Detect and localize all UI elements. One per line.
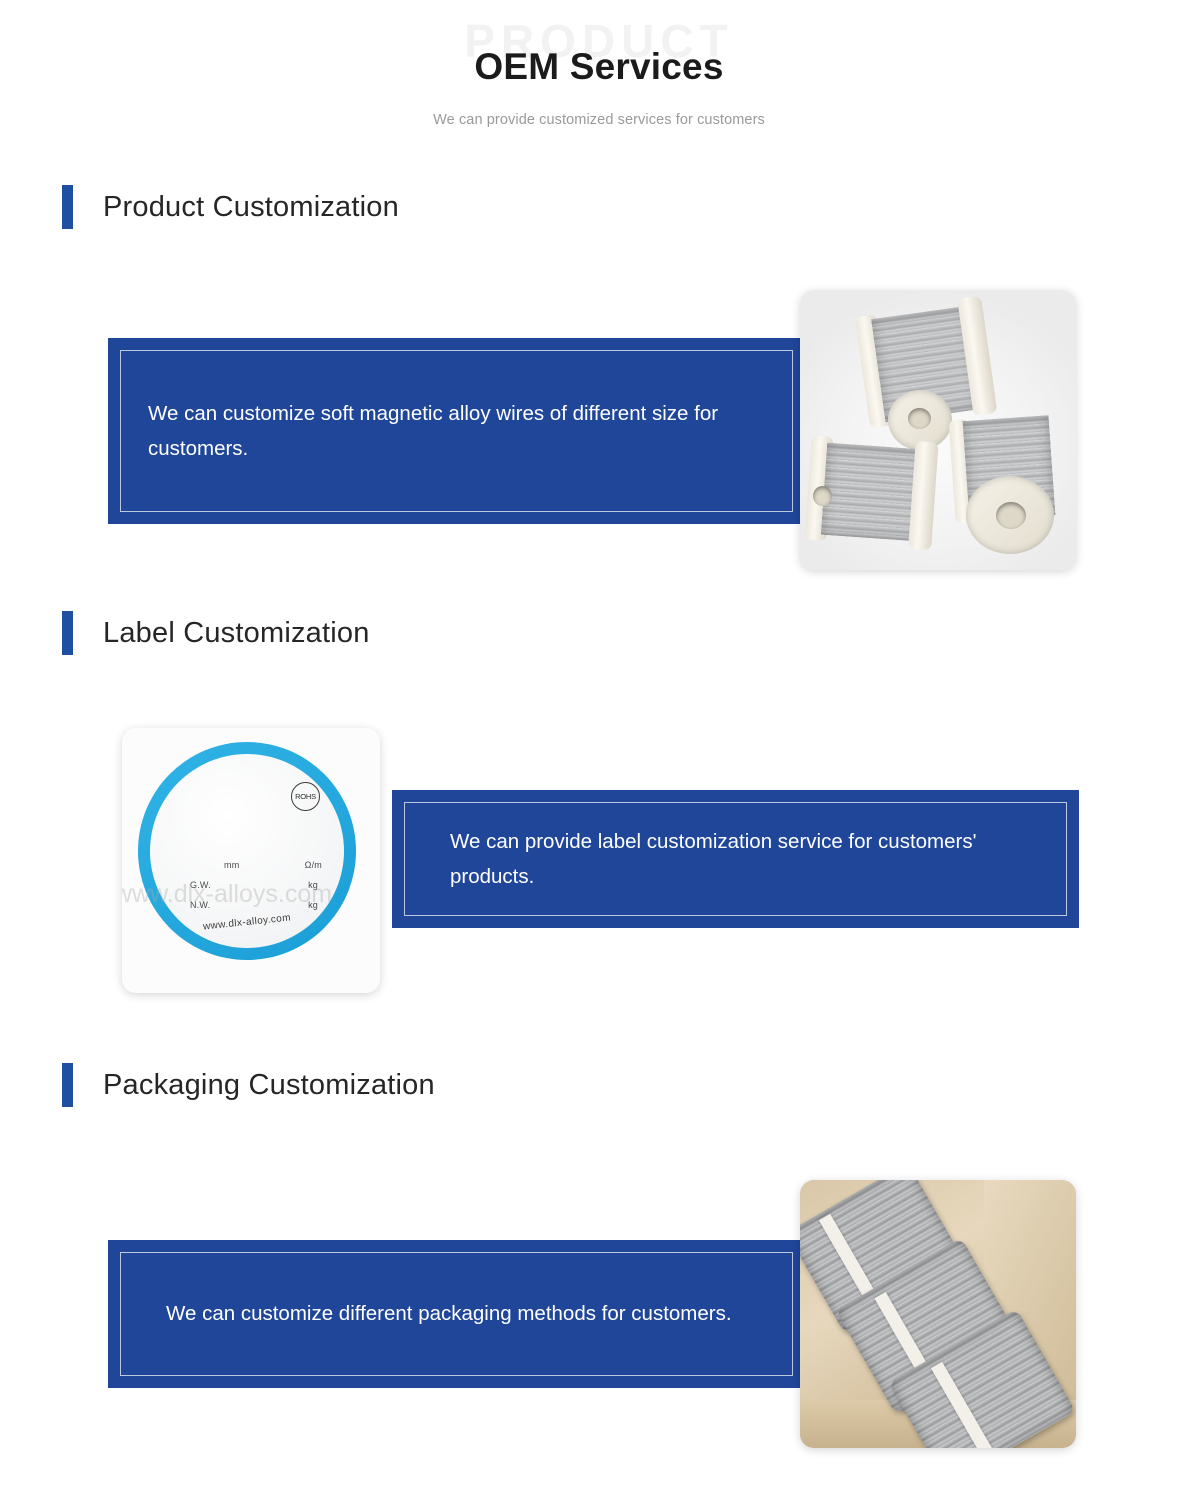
section-heading-packaging-customization: Packaging Customization <box>62 1062 435 1108</box>
round-label-image: ROHS mm G.W. N.W. Ω/m kg kg www.dlx-allo… <box>122 728 380 993</box>
packaged-spools-carton-photo <box>800 1180 1076 1448</box>
label-field-mm: mm <box>224 860 239 870</box>
spool-top-hole <box>908 408 931 429</box>
info-box-text: We can customize different packaging met… <box>166 1296 732 1331</box>
info-box-product-customization: We can customize soft magnetic alloy wir… <box>108 338 805 524</box>
label-website-url: www.dlx-alloy.com <box>150 907 344 938</box>
info-box-text: We can customize soft magnetic alloy wir… <box>148 396 745 467</box>
label-photo-watermark: www.dlx-alloys.com <box>122 880 380 909</box>
section-heading-product-customization: Product Customization <box>62 184 399 230</box>
page-subtitle: We can provide customized services for c… <box>0 112 1198 128</box>
wire-spools-photo <box>800 290 1076 570</box>
section-heading-label: Label Customization <box>103 617 370 650</box>
label-field-ohm-per-m: Ω/m <box>305 860 322 870</box>
rohs-badge: ROHS <box>291 782 320 811</box>
label-face: ROHS mm G.W. N.W. Ω/m kg kg www.dlx-allo… <box>150 754 344 948</box>
info-box-text: We can provide label customization servi… <box>450 824 1019 895</box>
round-label-photo: ROHS mm G.W. N.W. Ω/m kg kg www.dlx-allo… <box>122 728 380 993</box>
oem-services-page: PRODUCT OEM Services We can provide cust… <box>0 0 1198 1492</box>
label-blue-ring: ROHS mm G.W. N.W. Ω/m kg kg www.dlx-allo… <box>138 742 356 960</box>
packaged-spools-image <box>800 1180 1076 1448</box>
section-heading-label: Product Customization <box>103 191 399 224</box>
heading-accent-bar <box>62 611 73 655</box>
page-title: OEM Services <box>0 46 1198 89</box>
section-heading-label: Packaging Customization <box>103 1069 435 1102</box>
spool-left-hole <box>813 486 832 506</box>
heading-accent-bar <box>62 185 73 229</box>
info-box-label-customization: We can provide label customization servi… <box>392 790 1079 928</box>
heading-accent-bar <box>62 1063 73 1107</box>
wire-spools-image <box>800 290 1076 570</box>
section-heading-label-customization: Label Customization <box>62 610 370 656</box>
info-box-packaging-customization: We can customize different packaging met… <box>108 1240 805 1388</box>
spool-right-hole <box>996 502 1026 529</box>
page-header: PRODUCT OEM Services We can provide cust… <box>0 0 1198 150</box>
